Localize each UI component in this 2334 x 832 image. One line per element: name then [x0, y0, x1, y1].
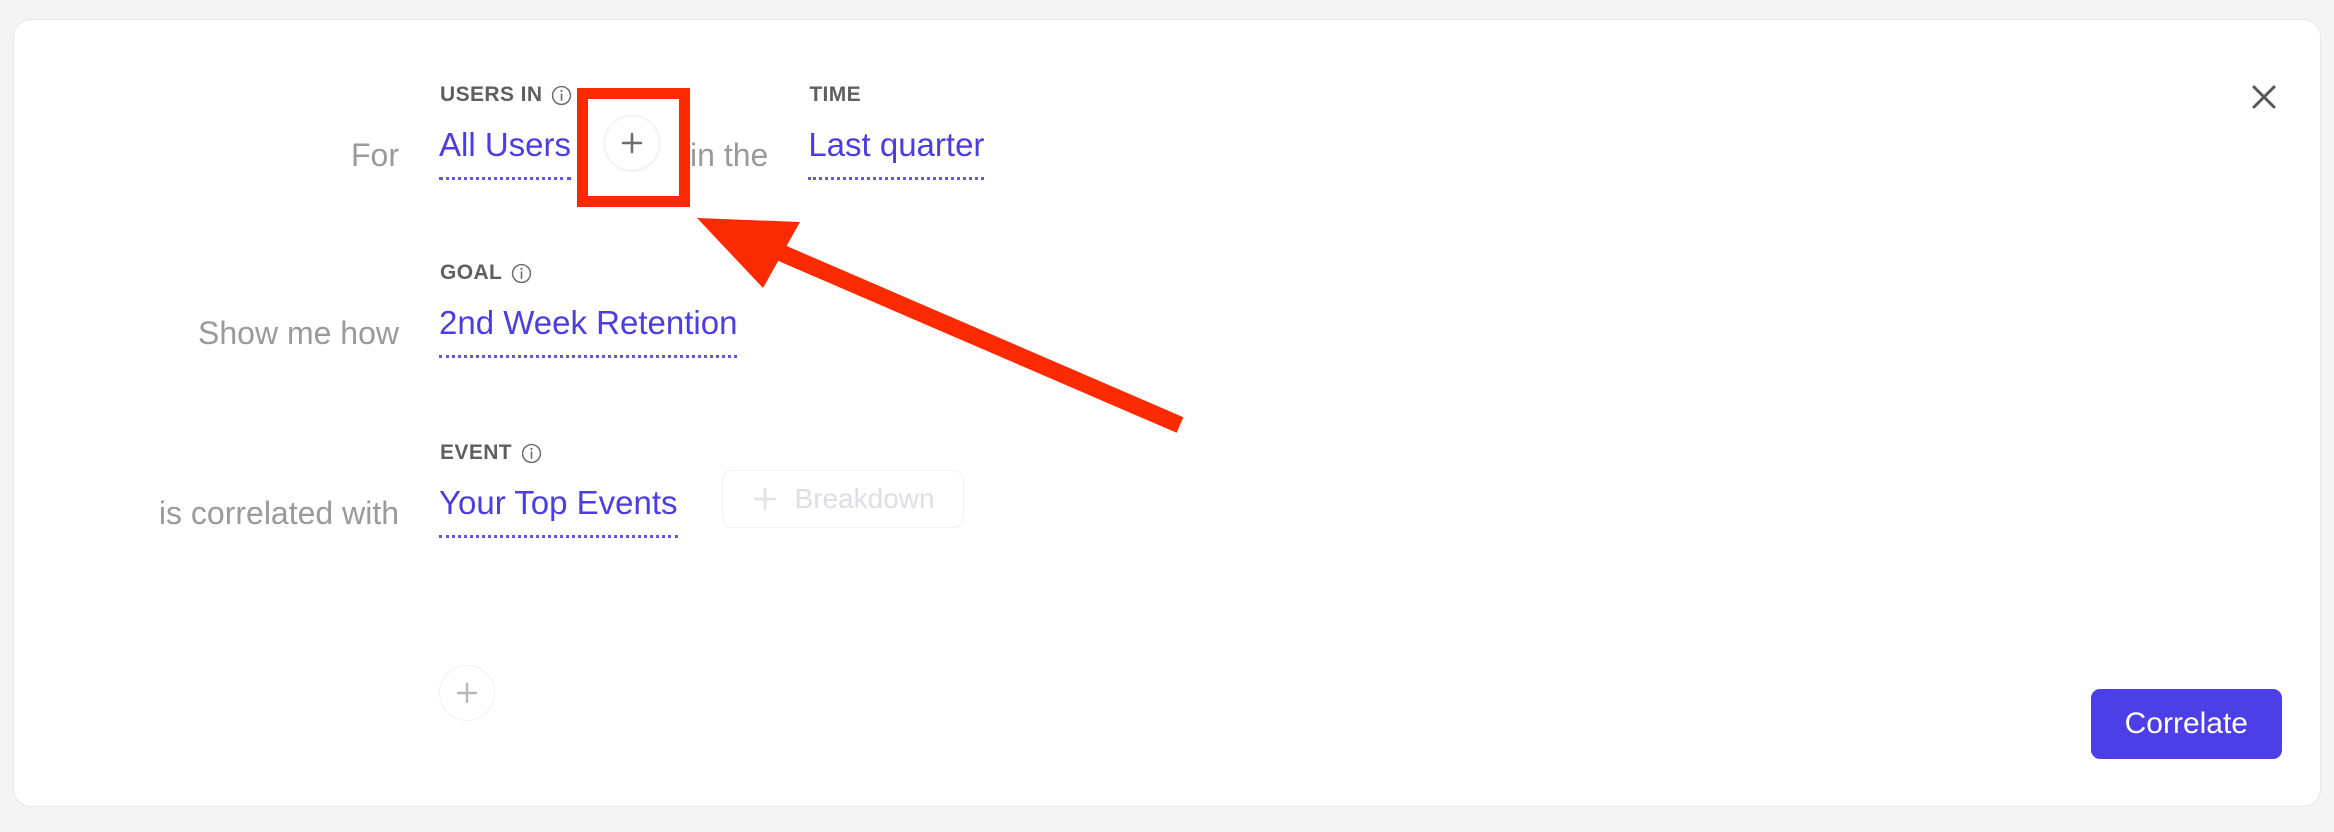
field-value-time[interactable]: Last quarter	[808, 125, 984, 180]
field-time: TIME Last quarter	[808, 125, 984, 180]
field-users-in: USERS IN All Users	[439, 125, 571, 180]
close-icon	[2250, 83, 2278, 111]
plus-icon	[751, 485, 779, 513]
info-icon[interactable]	[551, 85, 572, 106]
row-prefix-for: For	[14, 136, 399, 180]
screen-root: For USERS IN All Users	[0, 0, 2334, 832]
info-icon[interactable]	[521, 443, 542, 464]
plus-icon	[619, 130, 645, 156]
close-button[interactable]	[2242, 75, 2286, 119]
field-value-users-in[interactable]: All Users	[439, 125, 571, 180]
query-builder-card: For USERS IN All Users	[13, 19, 2321, 807]
add-step-button[interactable]	[439, 665, 495, 721]
field-label-users-in: USERS IN	[440, 83, 572, 107]
field-label-goal: GOAL	[440, 261, 532, 285]
row-prefix-show-me-how: Show me how	[14, 314, 399, 358]
field-label-time: TIME	[809, 83, 861, 107]
field-label-text: TIME	[809, 83, 861, 107]
info-icon[interactable]	[511, 263, 532, 284]
breakdown-button[interactable]: Breakdown	[722, 470, 964, 528]
field-label-text: GOAL	[440, 261, 502, 285]
field-label-text: USERS IN	[440, 83, 542, 107]
plus-icon	[454, 680, 480, 706]
field-label-event: EVENT	[440, 441, 542, 465]
breakdown-label: Breakdown	[795, 483, 935, 515]
field-value-goal[interactable]: 2nd Week Retention	[439, 303, 737, 358]
field-goal: GOAL 2nd Week Retention	[439, 303, 737, 358]
correlate-button[interactable]: Correlate	[2091, 689, 2282, 759]
field-value-event[interactable]: Your Top Events	[439, 483, 678, 538]
add-cohort-plus-button[interactable]	[604, 115, 660, 171]
field-event: EVENT Your Top Events	[439, 483, 678, 538]
row-connector-in-the: in the	[690, 136, 768, 180]
row-prefix-is-correlated-with: is correlated with	[14, 494, 399, 538]
field-label-text: EVENT	[440, 441, 512, 465]
